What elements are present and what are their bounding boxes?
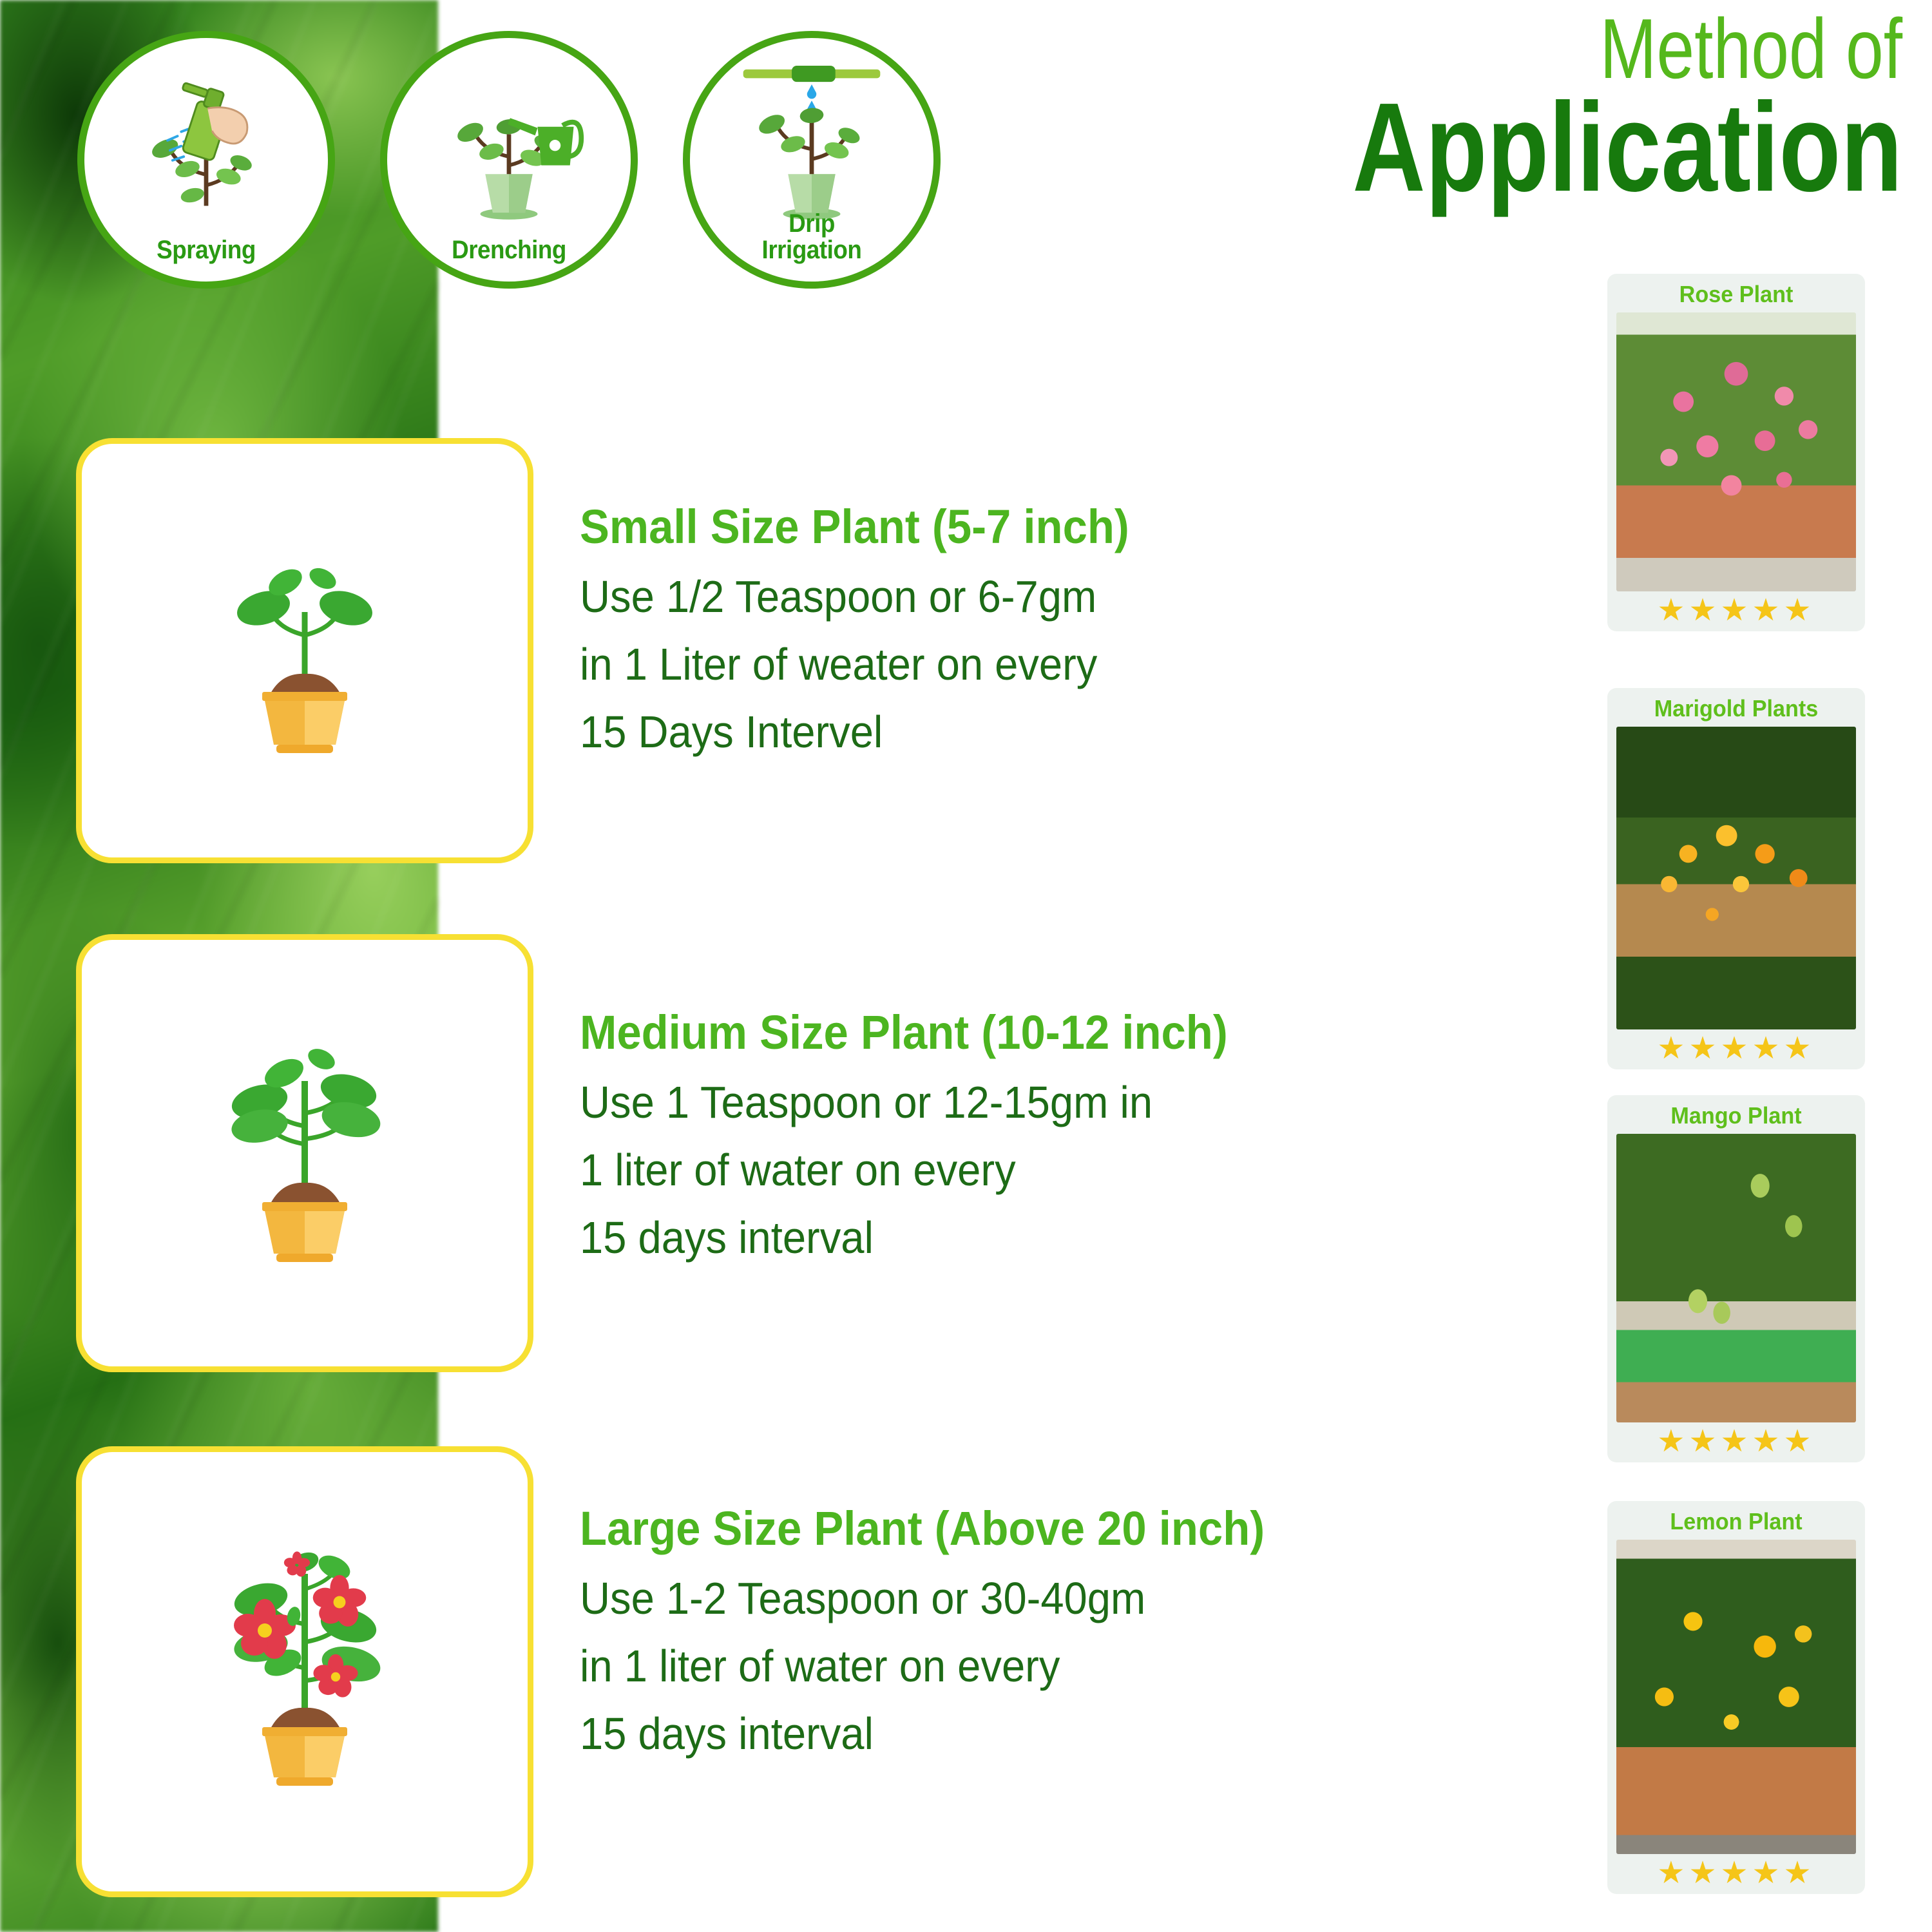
lemon-plant-photo	[1616, 1540, 1856, 1854]
product-card-marigold[interactable]: Marigold Plants ★★★★★	[1607, 688, 1865, 1069]
dosage-line-small-1: Use 1/2 Teaspoon or 6-7gm	[580, 563, 1515, 631]
plant-illustration-card-large	[76, 1446, 533, 1897]
method-label-spraying: Spraying	[94, 237, 318, 282]
rose-plant-photo	[1616, 312, 1856, 591]
dosage-line-large-2: in 1 liter of water on every	[580, 1632, 1515, 1700]
method-label-drip-line2: Irrigation	[700, 237, 924, 263]
product-rating-rose: ★★★★★	[1657, 591, 1815, 627]
method-circle-spraying[interactable]: Spraying	[77, 31, 335, 289]
method-label-drip-line1: Drip	[700, 211, 924, 237]
potted-seedling-icon	[208, 540, 401, 762]
plant-illustration-card-small	[76, 438, 533, 863]
watering-can-plant-icon	[387, 47, 631, 234]
dosage-heading-large: Large Size Plant (Above 20 inch)	[580, 1501, 1515, 1556]
dosage-line-small-3: 15 Days Intervel	[580, 698, 1515, 766]
product-title-lemon: Lemon Plant	[1670, 1509, 1802, 1535]
product-title-mango: Mango Plant	[1670, 1103, 1801, 1129]
title-line-application: Application	[1352, 88, 1902, 207]
product-card-mango[interactable]: Mango Plant ★★★★★	[1607, 1095, 1865, 1462]
page-title: Method of Application	[1215, 6, 1902, 207]
method-label-drenching: Drenching	[397, 237, 621, 282]
method-circle-drenching[interactable]: Drenching	[380, 31, 638, 289]
method-label-drip-irrigation: Drip Irrigation	[700, 211, 924, 282]
product-rating-lemon: ★★★★★	[1657, 1854, 1815, 1890]
product-rating-mango: ★★★★★	[1657, 1422, 1815, 1459]
marigold-plants-photo	[1616, 727, 1856, 1029]
drip-pipe-plant-icon	[690, 47, 933, 234]
dosage-text-small: Small Size Plant (5-7 inch) Use 1/2 Teas…	[580, 499, 1585, 766]
dosage-line-medium-1: Use 1 Teaspoon or 12-15gm in	[580, 1069, 1515, 1136]
product-card-lemon[interactable]: Lemon Plant ★★★★★	[1607, 1501, 1865, 1894]
product-title-rose: Rose Plant	[1679, 282, 1793, 307]
method-circle-drip-irrigation[interactable]: Drip Irrigation	[683, 31, 941, 289]
product-rating-marigold: ★★★★★	[1657, 1029, 1815, 1066]
dosage-line-large-3: 15 days interval	[580, 1700, 1515, 1768]
mango-plant-photo	[1616, 1134, 1856, 1422]
product-card-rose[interactable]: Rose Plant ★★★★★	[1607, 274, 1865, 631]
dosage-heading-medium: Medium Size Plant (10-12 inch)	[580, 1005, 1515, 1060]
potted-sapling-icon	[208, 1036, 401, 1271]
dosage-line-large-1: Use 1-2 Teaspoon or 30-40gm	[580, 1565, 1515, 1632]
dosage-heading-small: Small Size Plant (5-7 inch)	[580, 499, 1515, 554]
product-title-marigold: Marigold Plants	[1654, 696, 1819, 722]
potted-flowering-plant-icon	[208, 1548, 401, 1796]
spray-bottle-plant-icon	[84, 47, 328, 234]
dosage-text-medium: Medium Size Plant (10-12 inch) Use 1 Tea…	[580, 1005, 1585, 1272]
dosage-text-large: Large Size Plant (Above 20 inch) Use 1-2…	[580, 1501, 1585, 1768]
dosage-line-medium-2: 1 liter of water on every	[580, 1136, 1515, 1204]
dosage-line-small-2: in 1 Liter of weater on every	[580, 631, 1515, 698]
plant-illustration-card-medium	[76, 934, 533, 1372]
dosage-line-medium-3: 15 days interval	[580, 1204, 1515, 1272]
